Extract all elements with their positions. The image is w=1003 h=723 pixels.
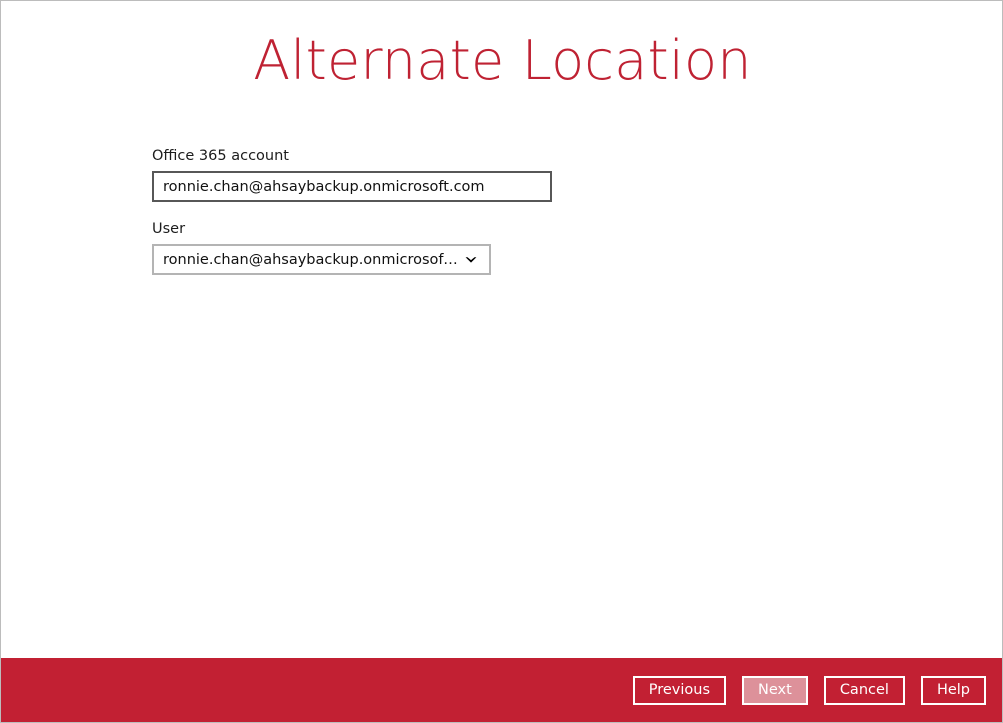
field-group-user: User ronnie.chan@ahsaybackup.onmicrosoft…: [152, 220, 852, 275]
field-group-office365-account: Office 365 account: [152, 147, 852, 202]
next-button[interactable]: Next: [742, 676, 808, 705]
user-select-value: ronnie.chan@ahsaybackup.onmicrosoft.com: [163, 252, 458, 268]
office365-account-label: Office 365 account: [152, 147, 852, 165]
page-title: Alternate Location: [1, 33, 1003, 90]
user-select[interactable]: ronnie.chan@ahsaybackup.onmicrosoft.com: [152, 244, 491, 275]
footer-bar: Previous Next Cancel Help: [1, 658, 1002, 722]
user-label: User: [152, 220, 852, 238]
user-select-wrap[interactable]: ronnie.chan@ahsaybackup.onmicrosoft.com: [152, 244, 491, 275]
cancel-button[interactable]: Cancel: [824, 676, 905, 705]
office365-account-input[interactable]: [152, 171, 552, 202]
form-area: Office 365 account User ronnie.chan@ahsa…: [152, 147, 852, 293]
chevron-down-icon[interactable]: [462, 251, 480, 269]
previous-button[interactable]: Previous: [633, 676, 726, 705]
alternate-location-window: Alternate Location Office 365 account Us…: [0, 0, 1003, 723]
help-button[interactable]: Help: [921, 676, 986, 705]
